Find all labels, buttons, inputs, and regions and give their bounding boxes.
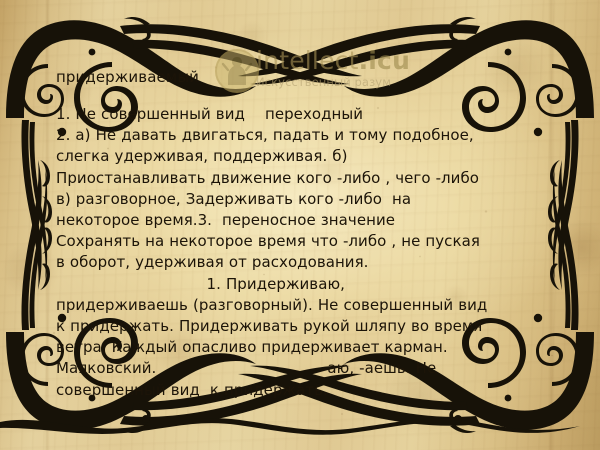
dictionary-entry: придерживаемый 1. Не совершенный вид пер… [56,68,548,401]
entry-body: 1. Не совершенный вид переходный 2. а) Н… [56,104,548,401]
dictionary-page: intellect.icu Искусственный разум придер… [0,0,600,450]
entry-headword: придерживаемый [56,68,548,87]
